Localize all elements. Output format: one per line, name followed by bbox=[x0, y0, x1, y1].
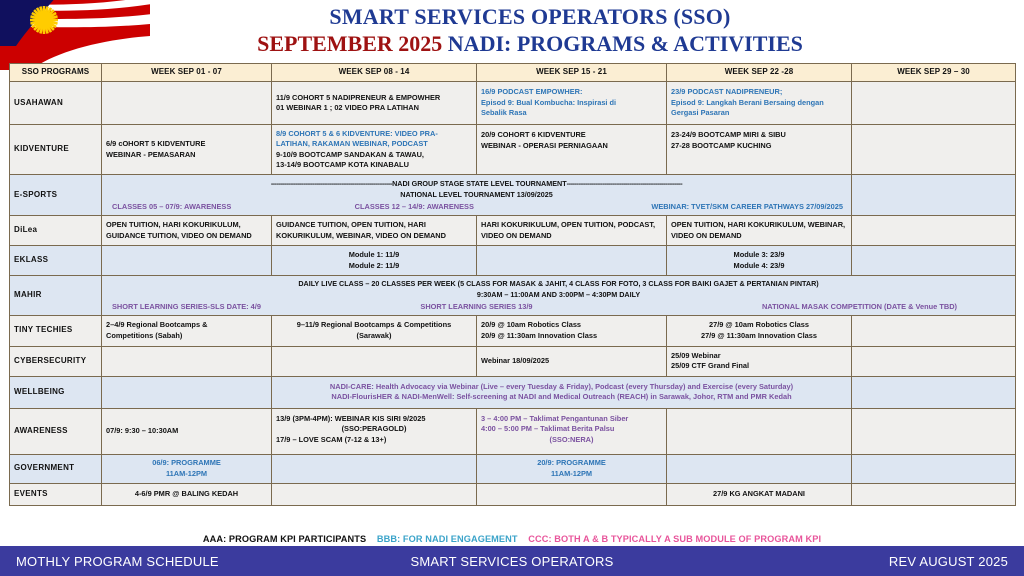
cell-text: Episod 9: Langkah Berani Bersaing dengan bbox=[671, 98, 847, 109]
table-row-tiny-techies: TINY TECHIES 2–4/9 Regional Bootcamps & … bbox=[10, 315, 1016, 346]
page-title: SMART SERVICES OPERATORS (SSO) SEPTEMBER… bbox=[150, 4, 910, 57]
cell-events-week2 bbox=[272, 483, 477, 505]
cell-usahawan-week1 bbox=[102, 82, 272, 125]
column-header-programs: SSO PROGRAMS bbox=[10, 64, 102, 82]
table-row-cybersecurity: CYBERSECURITY Webinar 18/09/2025 25/09 W… bbox=[10, 346, 1016, 376]
cell-events-week5 bbox=[852, 483, 1016, 505]
row-label-cybersecurity: CYBERSECURITY bbox=[10, 346, 102, 376]
schedule-table: SSO PROGRAMS WEEK SEP 01 - 07 WEEK SEP 0… bbox=[9, 63, 1016, 506]
title-rest: NADI: PROGRAMS & ACTIVITIES bbox=[442, 31, 803, 56]
table-row-usahawan: USAHAWAN 11/9 COHORT 5 NADIPRENEUR & EMP… bbox=[10, 82, 1016, 125]
cell-text: VIDEO ON DEMAND bbox=[671, 231, 847, 242]
cell-text: VIDEO ON DEMAND bbox=[481, 231, 662, 242]
mahir-line-1: DAILY LIVE CLASS – 20 CLASSES PER WEEK (… bbox=[106, 278, 1011, 289]
cell-cyber-week3: Webinar 18/09/2025 bbox=[477, 346, 667, 376]
row-label-dilea: DiLea bbox=[10, 216, 102, 246]
cell-text: Module 3: 23/9 bbox=[671, 250, 847, 261]
table-row-wellbeing: WELLBEING NADI-CARE: Health Advocacy via… bbox=[10, 376, 1016, 408]
cell-text: OPEN TUITION, HARI KOKURIKULUM, bbox=[106, 220, 267, 231]
cell-text: Module 2: 11/9 bbox=[276, 261, 472, 272]
table-row-eklass: EKLASS Module 1: 11/9 Module 2: 11/9 Mod… bbox=[10, 246, 1016, 276]
cell-text: GUIDANCE TUITION, VIDEO ON DEMAND bbox=[106, 231, 267, 242]
cell-text: 6/9 cOHORT 5 KIDVENTURE bbox=[106, 139, 267, 150]
cell-cyber-week4: 25/09 Webinar 25/09 CTF Grand Final bbox=[667, 346, 852, 376]
row-label-events: EVENTS bbox=[10, 483, 102, 505]
cell-eklass-week5 bbox=[852, 246, 1016, 276]
cell-eklass-week4: Module 3: 23/9 Module 4: 23/9 bbox=[667, 246, 852, 276]
cell-text: 13-14/9 BOOTCAMP KOTA KINABALU bbox=[276, 160, 472, 171]
table-body: USAHAWAN 11/9 COHORT 5 NADIPRENEUR & EMP… bbox=[10, 82, 1016, 506]
title-month: SEPTEMBER 2025 bbox=[257, 31, 442, 56]
cell-text: 2–4/9 Regional Bootcamps & bbox=[106, 320, 267, 331]
cell-text: OPEN TUITION, HARI KOKURIKULUM, WEBINAR, bbox=[671, 220, 847, 231]
legend-ccc: CCC: BOTH A & B TYPICALLY A SUB MODULE O… bbox=[528, 534, 821, 544]
cell-esports-week5 bbox=[852, 175, 1016, 216]
table-row-esports: E-SPORTS -------------------------------… bbox=[10, 175, 1016, 216]
cell-text: 23-24/9 BOOTCAMP MIRI & SIBU bbox=[671, 130, 847, 141]
cell-government-week4 bbox=[667, 454, 852, 483]
cell-esports-span: ----------------------------------------… bbox=[102, 175, 852, 216]
cell-text: 16/9 PODCAST EMPOWHER: bbox=[481, 87, 662, 98]
row-label-usahawan: USAHAWAN bbox=[10, 82, 102, 125]
cell-wellbeing-week5 bbox=[852, 376, 1016, 408]
row-label-tiny-techies: TINY TECHIES bbox=[10, 315, 102, 346]
table-row-dilea: DiLea OPEN TUITION, HARI KOKURIKULUM, GU… bbox=[10, 216, 1016, 246]
cell-awareness-week2: 13/9 (3PM-4PM): WEBINAR KIS SIRI 9/2025 … bbox=[272, 408, 477, 454]
cell-kidventure-week2: 8/9 COHORT 5 & 6 KIDVENTURE: VIDEO PRA- … bbox=[272, 125, 477, 175]
cell-dilea-week5 bbox=[852, 216, 1016, 246]
table-row-government: GOVERNMENT 06/9: PROGRAMME 11AM-12PM 20/… bbox=[10, 454, 1016, 483]
legend: AAA: PROGRAM KPI PARTICIPANTS BBB: FOR N… bbox=[0, 534, 1024, 544]
legend-bbb: BBB: FOR NADI ENGAGEMENT bbox=[377, 534, 518, 544]
cell-eklass-week1 bbox=[102, 246, 272, 276]
cell-kidventure-week1: 6/9 cOHORT 5 KIDVENTURE WEBINAR - PEMASA… bbox=[102, 125, 272, 175]
cell-wellbeing-span: NADI-CARE: Health Advocacy via Webinar (… bbox=[272, 376, 852, 408]
cell-dilea-week1: OPEN TUITION, HARI KOKURIKULUM, GUIDANCE… bbox=[102, 216, 272, 246]
row-label-mahir: MAHIR bbox=[10, 276, 102, 316]
cell-text: Episod 9: Bual Kombucha: Inspirasi di bbox=[481, 98, 662, 109]
cell-text: 9-10/9 BOOTCAMP SANDAKAN & TAWAU, bbox=[276, 150, 472, 161]
esports-note-2: CLASSES 12 – 14/9: AWARENESS bbox=[355, 202, 474, 213]
cell-awareness-week5 bbox=[852, 408, 1016, 454]
mahir-note-2: SHORT LEARNING SERIES 13/9 bbox=[420, 302, 532, 313]
cell-awareness-week1: 07/9: 9:30 – 10:30AM bbox=[102, 408, 272, 454]
table-row-kidventure: KIDVENTURE 6/9 cOHORT 5 KIDVENTURE WEBIN… bbox=[10, 125, 1016, 175]
cell-events-week4: 27/9 KG ANGKAT MADANI bbox=[667, 483, 852, 505]
row-label-eklass: EKLASS bbox=[10, 246, 102, 276]
cell-dilea-week3: HARI KOKURIKULUM, OPEN TUITION, PODCAST,… bbox=[477, 216, 667, 246]
esports-subnotes: CLASSES 05 – 07/9: AWARENESS CLASSES 12 … bbox=[106, 202, 847, 213]
cell-wellbeing-week1 bbox=[102, 376, 272, 408]
cell-text: 27-28 BOOTCAMP KUCHING bbox=[671, 141, 847, 152]
cell-text: 11/9 COHORT 5 NADIPRENEUR & EMPOWHER bbox=[276, 93, 472, 104]
cell-text: 27/9 @ 10am Robotics Class bbox=[671, 320, 847, 331]
cell-text: Module 4: 23/9 bbox=[671, 261, 847, 272]
column-header-week3: WEEK SEP 15 - 21 bbox=[477, 64, 667, 82]
cell-cyber-week5 bbox=[852, 346, 1016, 376]
cell-text: LATIHAN, RAKAMAN WEBINAR, PODCAST bbox=[276, 139, 472, 150]
header-row: SSO PROGRAMS WEEK SEP 01 - 07 WEEK SEP 0… bbox=[10, 64, 1016, 82]
footer-bar: MOTHLY PROGRAM SCHEDULE SMART SERVICES O… bbox=[0, 546, 1024, 576]
esports-tournament-line2: NATIONAL LEVEL TOURNAMENT 13/09/2025 bbox=[106, 189, 847, 200]
cell-kidventure-week3: 20/9 COHORT 6 KIDVENTURE WEBINAR - OPERA… bbox=[477, 125, 667, 175]
cell-text: 8/9 COHORT 5 & 6 KIDVENTURE: VIDEO PRA- bbox=[276, 129, 472, 140]
cell-government-week3: 20/9: PROGRAMME 11AM-12PM bbox=[477, 454, 667, 483]
cell-dilea-week4: OPEN TUITION, HARI KOKURIKULUM, WEBINAR,… bbox=[667, 216, 852, 246]
row-label-government: GOVERNMENT bbox=[10, 454, 102, 483]
cell-cyber-week1 bbox=[102, 346, 272, 376]
row-label-kidventure: KIDVENTURE bbox=[10, 125, 102, 175]
cell-eklass-week2: Module 1: 11/9 Module 2: 11/9 bbox=[272, 246, 477, 276]
table-row-events: EVENTS 4-6/9 PMR @ BALING KEDAH 27/9 KG … bbox=[10, 483, 1016, 505]
cell-text: 9–11/9 Regional Bootcamps & Competitions bbox=[276, 320, 472, 331]
cell-text: HARI KOKURIKULUM, OPEN TUITION, PODCAST, bbox=[481, 220, 662, 231]
cell-tiny-week1: 2–4/9 Regional Bootcamps & Competitions … bbox=[102, 315, 272, 346]
cell-awareness-week4 bbox=[667, 408, 852, 454]
cell-text: Module 1: 11/9 bbox=[276, 250, 472, 261]
cell-text: NADI GROUP STAGE STATE LEVEL TOURNAMENT bbox=[392, 179, 567, 188]
cell-text: WEBINAR - PEMASARAN bbox=[106, 150, 267, 161]
column-header-week1: WEEK SEP 01 - 07 bbox=[102, 64, 272, 82]
cell-text: KOKURIKULUM, WEBINAR, VIDEO ON DEMAND bbox=[276, 231, 472, 242]
cell-text: WEBINAR - OPERASI PERNIAGAAN bbox=[481, 141, 662, 152]
cell-text: 01 WEBINAR 1 ; 02 VIDEO PRA LATIHAN bbox=[276, 103, 472, 114]
column-header-week2: WEEK SEP 08 - 14 bbox=[272, 64, 477, 82]
esports-tournament-line1: ----------------------------------------… bbox=[106, 178, 847, 189]
cell-government-week5 bbox=[852, 454, 1016, 483]
cell-tiny-week4: 27/9 @ 10am Robotics Class 27/9 @ 11:30a… bbox=[667, 315, 852, 346]
column-header-week4: WEEK SEP 22 -28 bbox=[667, 64, 852, 82]
cell-text: Sebalik Rasa bbox=[481, 108, 662, 119]
column-header-week5: WEEK SEP 29 – 30 bbox=[852, 64, 1016, 82]
cell-tiny-week3: 20/9 @ 10am Robotics Class 20/9 @ 11:30a… bbox=[477, 315, 667, 346]
cell-text: 4:00 – 5:00 PM – Taklimat Berita Palsu bbox=[481, 424, 662, 435]
mahir-line-2: 9:30AM – 11:00AM AND 3:00PM – 4:30PM DAI… bbox=[106, 289, 1011, 300]
cell-text: 20/9 COHORT 6 KIDVENTURE bbox=[481, 130, 662, 141]
cell-tiny-week2: 9–11/9 Regional Bootcamps & Competitions… bbox=[272, 315, 477, 346]
cell-events-week3 bbox=[477, 483, 667, 505]
cell-text: (SSO:PERAGOLD) bbox=[276, 424, 472, 435]
title-line-1: SMART SERVICES OPERATORS (SSO) bbox=[150, 4, 910, 30]
esports-note-3: WEBINAR: TVET/SKM CAREER PATHWAYS 27/09/… bbox=[651, 202, 843, 213]
row-label-wellbeing: WELLBEING bbox=[10, 376, 102, 408]
cell-text: Competitions (Sabah) bbox=[106, 331, 267, 342]
cell-government-week1: 06/9: PROGRAMME 11AM-12PM bbox=[102, 454, 272, 483]
cell-text: 3 – 4:00 PM – Taklimat Pengantunan Siber bbox=[481, 414, 662, 425]
cell-text: 27/9 @ 11:30am Innovation Class bbox=[671, 331, 847, 342]
mahir-subnotes: SHORT LEARNING SERIES-SLS DATE: 4/9 SHOR… bbox=[106, 302, 1011, 313]
cell-text: 20/9 @ 10am Robotics Class bbox=[481, 320, 662, 331]
cell-text: 11AM-12PM bbox=[106, 469, 267, 480]
cell-text: 25/09 Webinar bbox=[671, 351, 847, 362]
cell-tiny-week5 bbox=[852, 315, 1016, 346]
table-row-mahir: MAHIR DAILY LIVE CLASS – 20 CLASSES PER … bbox=[10, 276, 1016, 316]
footer-right: REV AUGUST 2025 bbox=[889, 554, 1008, 569]
cell-text: 23/9 PODCAST NADIPRENEUR; bbox=[671, 87, 847, 98]
cell-text: GUIDANCE TUITION, OPEN TUITION, HARI bbox=[276, 220, 472, 231]
cell-text: 20/9 @ 11:30am Innovation Class bbox=[481, 331, 662, 342]
legend-aaa: AAA: PROGRAM KPI PARTICIPANTS bbox=[203, 534, 366, 544]
cell-text: 25/09 CTF Grand Final bbox=[671, 361, 847, 372]
cell-government-week2 bbox=[272, 454, 477, 483]
cell-kidventure-week4: 23-24/9 BOOTCAMP MIRI & SIBU 27-28 BOOTC… bbox=[667, 125, 852, 175]
table-row-awareness: AWARENESS 07/9: 9:30 – 10:30AM 13/9 (3PM… bbox=[10, 408, 1016, 454]
title-line-2: SEPTEMBER 2025 NADI: PROGRAMS & ACTIVITI… bbox=[150, 30, 910, 57]
cell-text: (Sarawak) bbox=[276, 331, 472, 342]
cell-eklass-week3 bbox=[477, 246, 667, 276]
cell-text: 17/9 – LOVE SCAM (7-12 & 13+) bbox=[276, 435, 472, 446]
cell-usahawan-week5 bbox=[852, 82, 1016, 125]
malaysia-flag-icon bbox=[0, 0, 150, 70]
cell-dilea-week2: GUIDANCE TUITION, OPEN TUITION, HARI KOK… bbox=[272, 216, 477, 246]
cell-text: (SSO:NERA) bbox=[481, 435, 662, 446]
cell-text: 06/9: PROGRAMME bbox=[106, 458, 267, 469]
cell-events-week1: 4-6/9 PMR @ BALING KEDAH bbox=[102, 483, 272, 505]
cell-text: Gergasi Pasaran bbox=[671, 108, 847, 119]
cell-mahir-span: DAILY LIVE CLASS – 20 CLASSES PER WEEK (… bbox=[102, 276, 1016, 316]
mahir-note-1: SHORT LEARNING SERIES-SLS DATE: 4/9 bbox=[112, 302, 261, 313]
cell-text: 20/9: PROGRAMME bbox=[481, 458, 662, 469]
wellbeing-line-2: NADI-FlourisHER & NADI-MenWell: Self-scr… bbox=[276, 392, 847, 403]
mahir-note-3: NATIONAL MASAK COMPETITION (DATE & Venue… bbox=[762, 302, 957, 313]
cell-awareness-week3: 3 – 4:00 PM – Taklimat Pengantunan Siber… bbox=[477, 408, 667, 454]
cell-usahawan-week4: 23/9 PODCAST NADIPRENEUR; Episod 9: Lang… bbox=[667, 82, 852, 125]
cell-kidventure-week5 bbox=[852, 125, 1016, 175]
wellbeing-line-1: NADI-CARE: Health Advocacy via Webinar (… bbox=[276, 382, 847, 393]
cell-usahawan-week3: 16/9 PODCAST EMPOWHER: Episod 9: Bual Ko… bbox=[477, 82, 667, 125]
cell-usahawan-week2: 11/9 COHORT 5 NADIPRENEUR & EMPOWHER 01 … bbox=[272, 82, 477, 125]
table-header: SSO PROGRAMS WEEK SEP 01 - 07 WEEK SEP 0… bbox=[10, 64, 1016, 82]
cell-text: 13/9 (3PM-4PM): WEBINAR KIS SIRI 9/2025 bbox=[276, 414, 472, 425]
cell-cyber-week2 bbox=[272, 346, 477, 376]
schedule-page: SMART SERVICES OPERATORS (SSO) SEPTEMBER… bbox=[0, 0, 1024, 576]
footer-left: MOTHLY PROGRAM SCHEDULE bbox=[16, 554, 219, 569]
row-label-esports: E-SPORTS bbox=[10, 175, 102, 216]
cell-text: 11AM-12PM bbox=[481, 469, 662, 480]
row-label-awareness: AWARENESS bbox=[10, 408, 102, 454]
esports-note-1: CLASSES 05 – 07/9: AWARENESS bbox=[112, 202, 231, 213]
